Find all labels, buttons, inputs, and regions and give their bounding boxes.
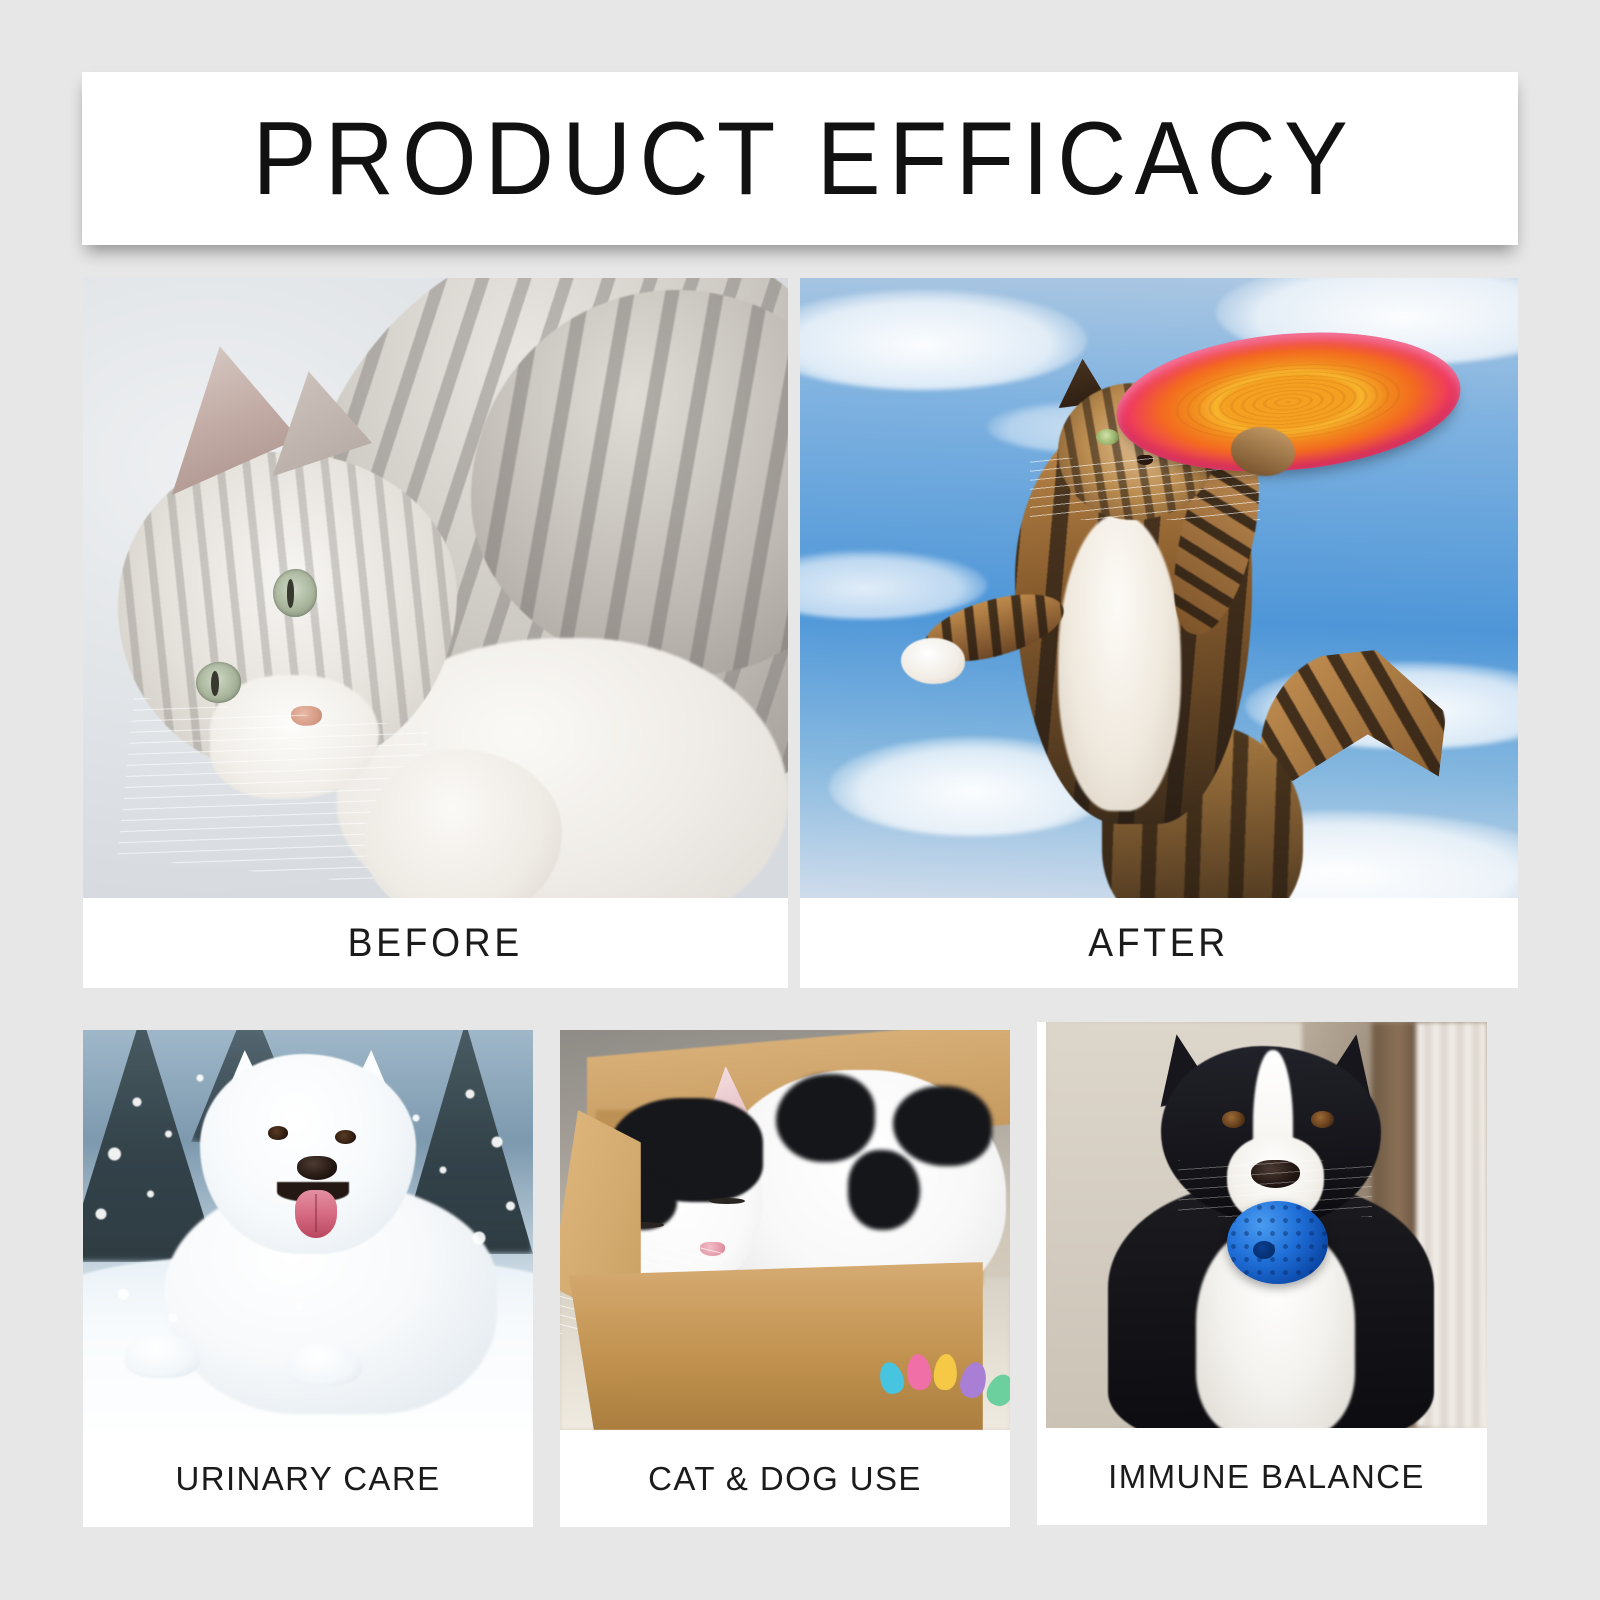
urinary-care-photo (83, 1030, 533, 1430)
cat-eye-upper (273, 569, 317, 616)
falling-snow-flakes (83, 1030, 533, 1430)
after-caption-bar: AFTER (800, 898, 1518, 988)
samoyed-dog-in-snow-image (83, 1030, 533, 1430)
cloud-shape (800, 290, 1087, 389)
border-collie-with-ball-image (1046, 1022, 1487, 1428)
after-photo (800, 278, 1518, 898)
cat-paw-white (901, 638, 966, 685)
dog-eye-right (1311, 1111, 1334, 1127)
blue-rubber-ball (1227, 1201, 1328, 1284)
immune-balance-photo (1046, 1022, 1487, 1428)
before-caption-bar: BEFORE (83, 898, 788, 988)
cat-chest (1058, 514, 1180, 812)
cat-catching-frisbee-image (800, 278, 1518, 898)
feature-card-cat-dog-use[interactable]: CAT & DOG USE (560, 1030, 1010, 1527)
cat-sleeping-in-box-image (560, 1030, 1010, 1430)
feature-card-urinary-care[interactable]: URINARY CARE (83, 1030, 533, 1527)
cat-dog-use-photo (560, 1030, 1010, 1430)
cat-dog-use-caption-bar: CAT & DOG USE (560, 1430, 1010, 1527)
before-photo (83, 278, 788, 898)
title-banner: PRODUCT EFFICACY (82, 72, 1518, 245)
poster-canvas: PRODUCT EFFICACY BEFORE (0, 0, 1600, 1600)
box-front-flap (569, 1262, 983, 1430)
urinary-care-label: URINARY CARE (176, 1460, 441, 1498)
cloud-shape (800, 551, 987, 619)
feature-card-immune-balance[interactable]: IMMUNE BALANCE (1037, 1022, 1487, 1525)
silver-tabby-cat-image (83, 278, 788, 898)
cat-black-patch (893, 1086, 992, 1166)
cat-black-patch (776, 1074, 875, 1162)
immune-balance-label: IMMUNE BALANCE (1108, 1458, 1425, 1496)
cat-black-patch (848, 1150, 920, 1230)
urinary-care-caption-bar: URINARY CARE (83, 1430, 533, 1527)
before-caption-label: BEFORE (348, 921, 523, 966)
page-title: PRODUCT EFFICACY (244, 107, 1356, 211)
comparison-card-before[interactable]: BEFORE (83, 278, 788, 988)
immune-balance-caption-bar: IMMUNE BALANCE (1046, 1428, 1487, 1525)
comparison-card-after[interactable]: AFTER (800, 278, 1518, 988)
cat-dog-use-label: CAT & DOG USE (648, 1460, 922, 1498)
dog-eye-left (1222, 1111, 1245, 1127)
after-caption-label: AFTER (1089, 921, 1230, 966)
